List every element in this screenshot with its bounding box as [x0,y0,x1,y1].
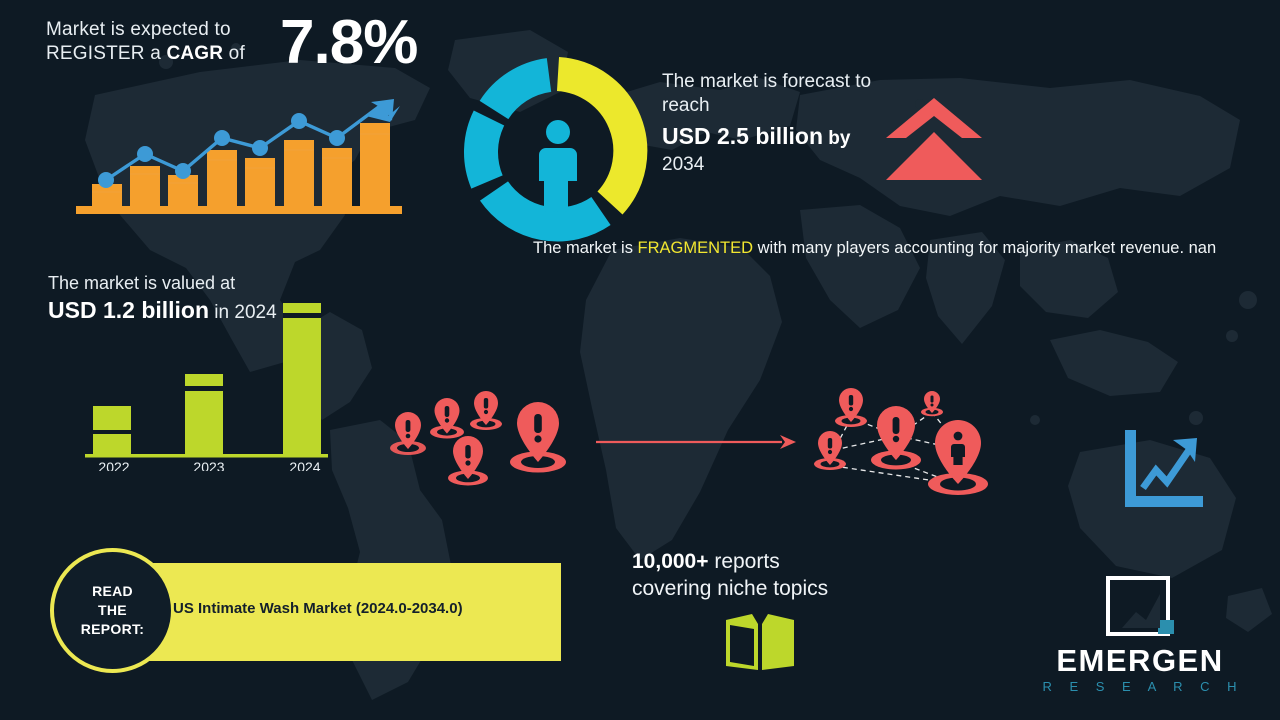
logo-name: EMERGEN [1020,644,1260,678]
growth-bar-chart-icon [68,88,408,220]
map-pin-cluster-icon [382,386,582,490]
forecast-block: The market is forecast to reach USD 2.5 … [662,70,892,176]
right-arrow-icon [596,432,796,452]
fragmented-highlight: FRAGMENTED [638,239,754,257]
bar-label-2022: 2022 [98,459,129,471]
cagr-line2-post: of [223,43,245,64]
person-icon [539,120,577,212]
donut-pie-chart-icon [463,56,653,246]
cagr-line1: Market is expected to [46,19,231,40]
logo-subtitle: R E S E A R C H [1020,678,1260,696]
market-value-bar-chart: 2022 2023 2024 [85,296,335,471]
cta-line2: THE [98,602,127,618]
double-chevron-up-icon [884,96,984,182]
cagr-line2-bold: CAGR [166,43,223,64]
reports-count-block: 10,000+ reports covering niche topics [632,548,932,602]
forecast-value: USD 2.5 billion [662,123,823,149]
fragmented-post: with many players accounting for majorit… [753,239,1216,257]
valued-lead: The market is valued at [48,272,378,295]
reports-line2: covering niche topics [632,575,932,602]
report-title[interactable]: US Intimate Wash Market (2024.0-2034.0) [173,600,553,617]
cagr-block: Market is expected to REGISTER a CAGR of… [46,18,466,66]
forecast-value-row: USD 2.5 billion by [662,122,892,153]
cagr-value: 7.8% [280,12,417,74]
read-report-label: READ THE REPORT: [81,582,145,639]
read-report-button[interactable]: READ THE REPORT: [50,548,175,673]
connected-map-pin-cluster-icon [806,388,1012,500]
bar-label-2024: 2024 [289,459,320,471]
forecast-by: by [823,128,850,149]
reports-count: 10,000+ [632,550,709,573]
bar-label-2023: 2023 [193,459,224,471]
fragmented-pre: The market is [533,239,638,257]
forecast-lead: The market is forecast to reach [662,70,892,118]
cagr-line2-pre: REGISTER a [46,43,166,64]
reports-line1: 10,000+ reports [632,548,932,575]
square-chart-logo-icon [1106,576,1174,640]
open-book-icon [722,608,798,674]
cta-line3: REPORT: [81,621,145,637]
infographic-canvas: Market is expected to REGISTER a CAGR of… [0,0,1280,720]
emergen-research-logo: EMERGEN R E S E A R C H [1020,576,1260,696]
reports-line1-rest: reports [709,550,780,573]
forecast-year: 2034 [662,153,892,176]
cta-line1: READ [92,583,133,599]
line-chart-growth-icon [1123,430,1203,510]
fragmented-statement: The market is FRAGMENTED with many playe… [533,236,1223,260]
